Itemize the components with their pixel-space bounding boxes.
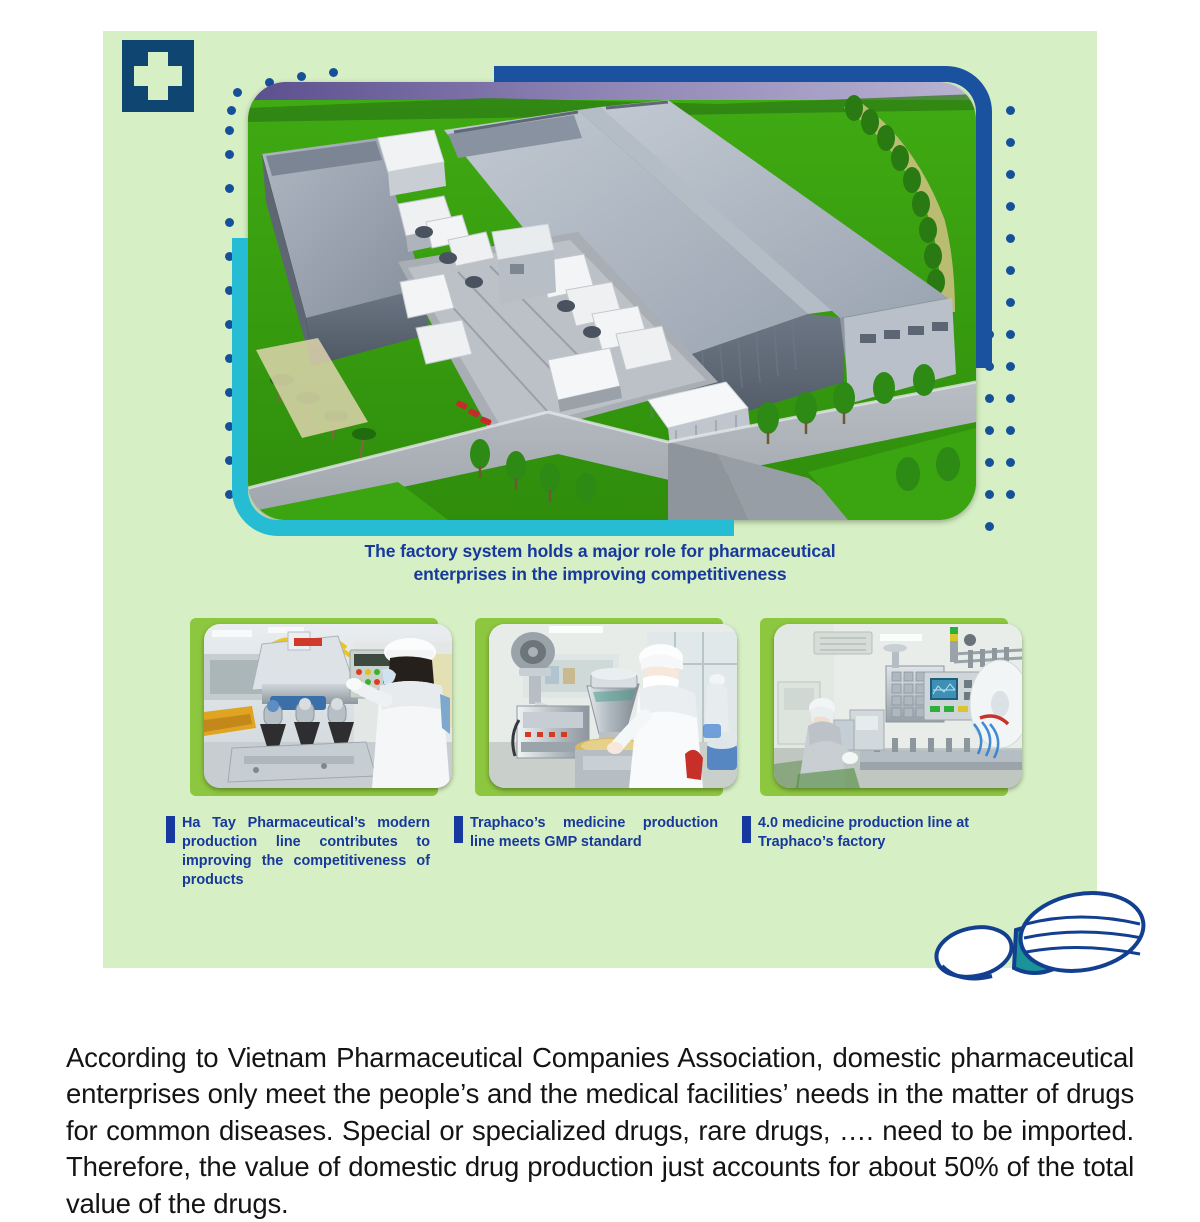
pills-logo	[930, 880, 1150, 990]
caption-ha-tay: Ha Tay Pharmaceutical’s modern productio…	[182, 814, 430, 891]
body-paragraph: According to Vietnam Pharmaceutical Comp…	[66, 1040, 1134, 1222]
thumbnail-traphaco-40[interactable]	[760, 618, 1022, 800]
decorative-dot	[1006, 330, 1015, 339]
caption-text: Ha Tay Pharmaceutical’s modern productio…	[182, 815, 430, 888]
ha-tay-production-line-photo	[204, 624, 452, 788]
decorative-dot	[1006, 138, 1015, 147]
decorative-dot	[1006, 234, 1015, 243]
thumbnail-ha-tay[interactable]	[190, 618, 452, 800]
traphaco-40-line-photo	[774, 624, 1022, 788]
hero-caption-line-2: enterprises in the improving competitive…	[270, 563, 930, 586]
hero-image-block	[232, 66, 992, 536]
thumbnail-traphaco-gmp[interactable]	[475, 618, 737, 800]
decorative-dot	[1006, 426, 1015, 435]
decorative-dot	[1006, 458, 1015, 467]
caption-text: Traphaco’s medicine production line meet…	[470, 815, 718, 850]
decorative-dot	[1006, 266, 1015, 275]
decorative-dot	[1006, 298, 1015, 307]
caption-accent-bar	[742, 816, 751, 843]
decorative-dot	[1006, 106, 1015, 115]
hero-caption: The factory system holds a major role fo…	[270, 540, 930, 587]
caption-traphaco-40: 4.0 medicine production line at Traphaco…	[758, 814, 1010, 852]
caption-accent-bar	[166, 816, 175, 843]
factory-aerial-photo	[248, 82, 976, 520]
decorative-dot	[1006, 362, 1015, 371]
caption-text: 4.0 medicine production line at Traphaco…	[758, 815, 969, 850]
decorative-dot	[1006, 202, 1015, 211]
decorative-dot	[1006, 170, 1015, 179]
cross-horizontal-bar	[134, 66, 182, 86]
decorative-dot	[1006, 490, 1015, 499]
caption-accent-bar	[454, 816, 463, 843]
medical-cross-icon	[122, 40, 194, 112]
decorative-dot	[1006, 394, 1015, 403]
hero-caption-line-1: The factory system holds a major role fo…	[270, 540, 930, 563]
caption-traphaco-gmp: Traphaco’s medicine production line meet…	[470, 814, 718, 852]
traphaco-gmp-line-photo	[489, 624, 737, 788]
